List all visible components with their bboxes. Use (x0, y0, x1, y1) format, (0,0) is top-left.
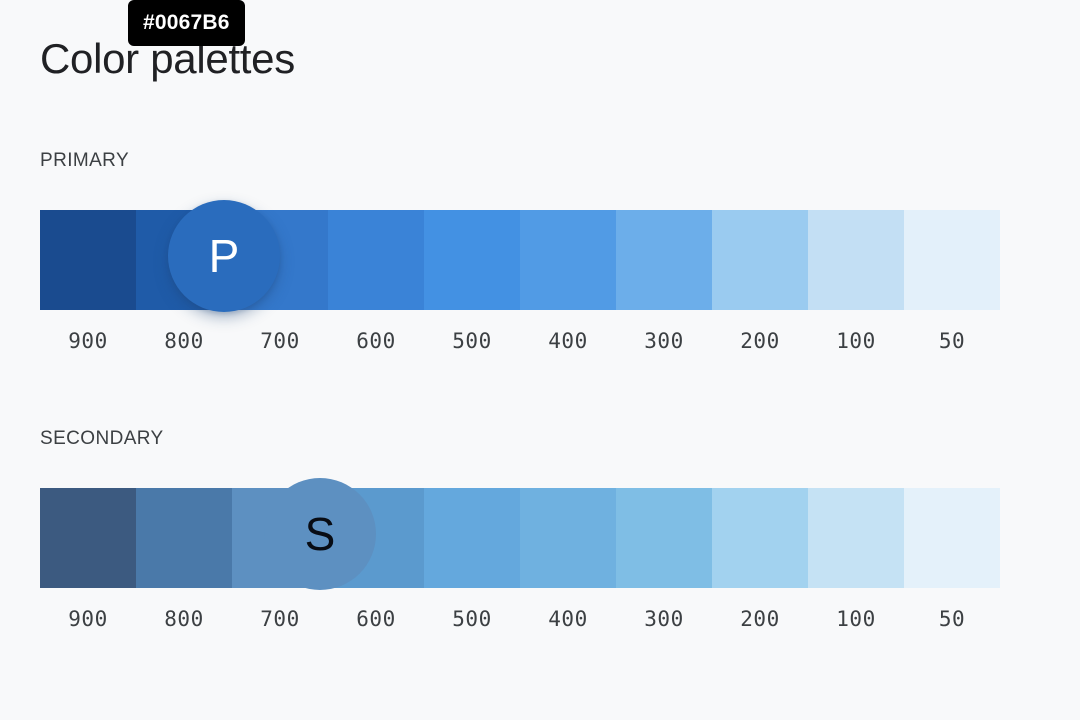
tick-primary-600: 600 (328, 326, 424, 356)
palette-label-primary: PRIMARY (40, 148, 1000, 174)
tick-primary-400: 400 (520, 326, 616, 356)
tick-primary-100: 100 (808, 326, 904, 356)
palette-label-secondary: SECONDARY (40, 426, 1000, 452)
tick-row-secondary: 900 800 700 600 500 400 300 200 100 50 (40, 604, 1000, 634)
color-value-tooltip: #0067B6 (128, 0, 245, 46)
swatch-primary-100[interactable] (808, 210, 904, 310)
tick-primary-900: 900 (40, 326, 136, 356)
tick-secondary-200: 200 (712, 604, 808, 634)
tick-primary-700: 700 (232, 326, 328, 356)
tick-primary-300: 300 (616, 326, 712, 356)
swatch-primary-200[interactable] (712, 210, 808, 310)
palette-section-primary: PRIMARY P 900 800 700 600 500 400 300 20… (40, 148, 1000, 356)
swatch-strip-primary: P (40, 210, 1000, 310)
swatch-primary-500[interactable] (424, 210, 520, 310)
swatch-secondary-100[interactable] (808, 488, 904, 588)
tick-secondary-50: 50 (904, 604, 1000, 634)
tick-primary-500: 500 (424, 326, 520, 356)
tick-secondary-900: 900 (40, 604, 136, 634)
tick-secondary-700: 700 (232, 604, 328, 634)
swatch-secondary-400[interactable] (520, 488, 616, 588)
swatch-primary-300[interactable] (616, 210, 712, 310)
primary-color-marker[interactable]: P (168, 200, 280, 312)
tick-primary-200: 200 (712, 326, 808, 356)
tick-secondary-400: 400 (520, 604, 616, 634)
swatch-primary-50[interactable] (904, 210, 1000, 310)
swatch-secondary-300[interactable] (616, 488, 712, 588)
swatch-secondary-200[interactable] (712, 488, 808, 588)
swatch-strip-secondary: S (40, 488, 1000, 588)
secondary-color-marker[interactable]: S (264, 478, 376, 590)
swatch-primary-900[interactable] (40, 210, 136, 310)
swatch-secondary-500[interactable] (424, 488, 520, 588)
tick-secondary-600: 600 (328, 604, 424, 634)
color-palettes-page: Color palettes PRIMARY P 900 800 700 600… (0, 0, 1080, 720)
tick-primary-50: 50 (904, 326, 1000, 356)
palette-section-secondary: SECONDARY S 900 800 700 600 500 400 300 … (40, 426, 1000, 634)
swatch-secondary-900[interactable] (40, 488, 136, 588)
swatch-secondary-50[interactable] (904, 488, 1000, 588)
tick-secondary-500: 500 (424, 604, 520, 634)
tick-secondary-800: 800 (136, 604, 232, 634)
tick-secondary-100: 100 (808, 604, 904, 634)
tick-primary-800: 800 (136, 326, 232, 356)
swatch-primary-400[interactable] (520, 210, 616, 310)
swatch-secondary-800[interactable] (136, 488, 232, 588)
swatch-primary-600[interactable] (328, 210, 424, 310)
tick-row-primary: 900 800 700 600 500 400 300 200 100 50 (40, 326, 1000, 356)
tick-secondary-300: 300 (616, 604, 712, 634)
